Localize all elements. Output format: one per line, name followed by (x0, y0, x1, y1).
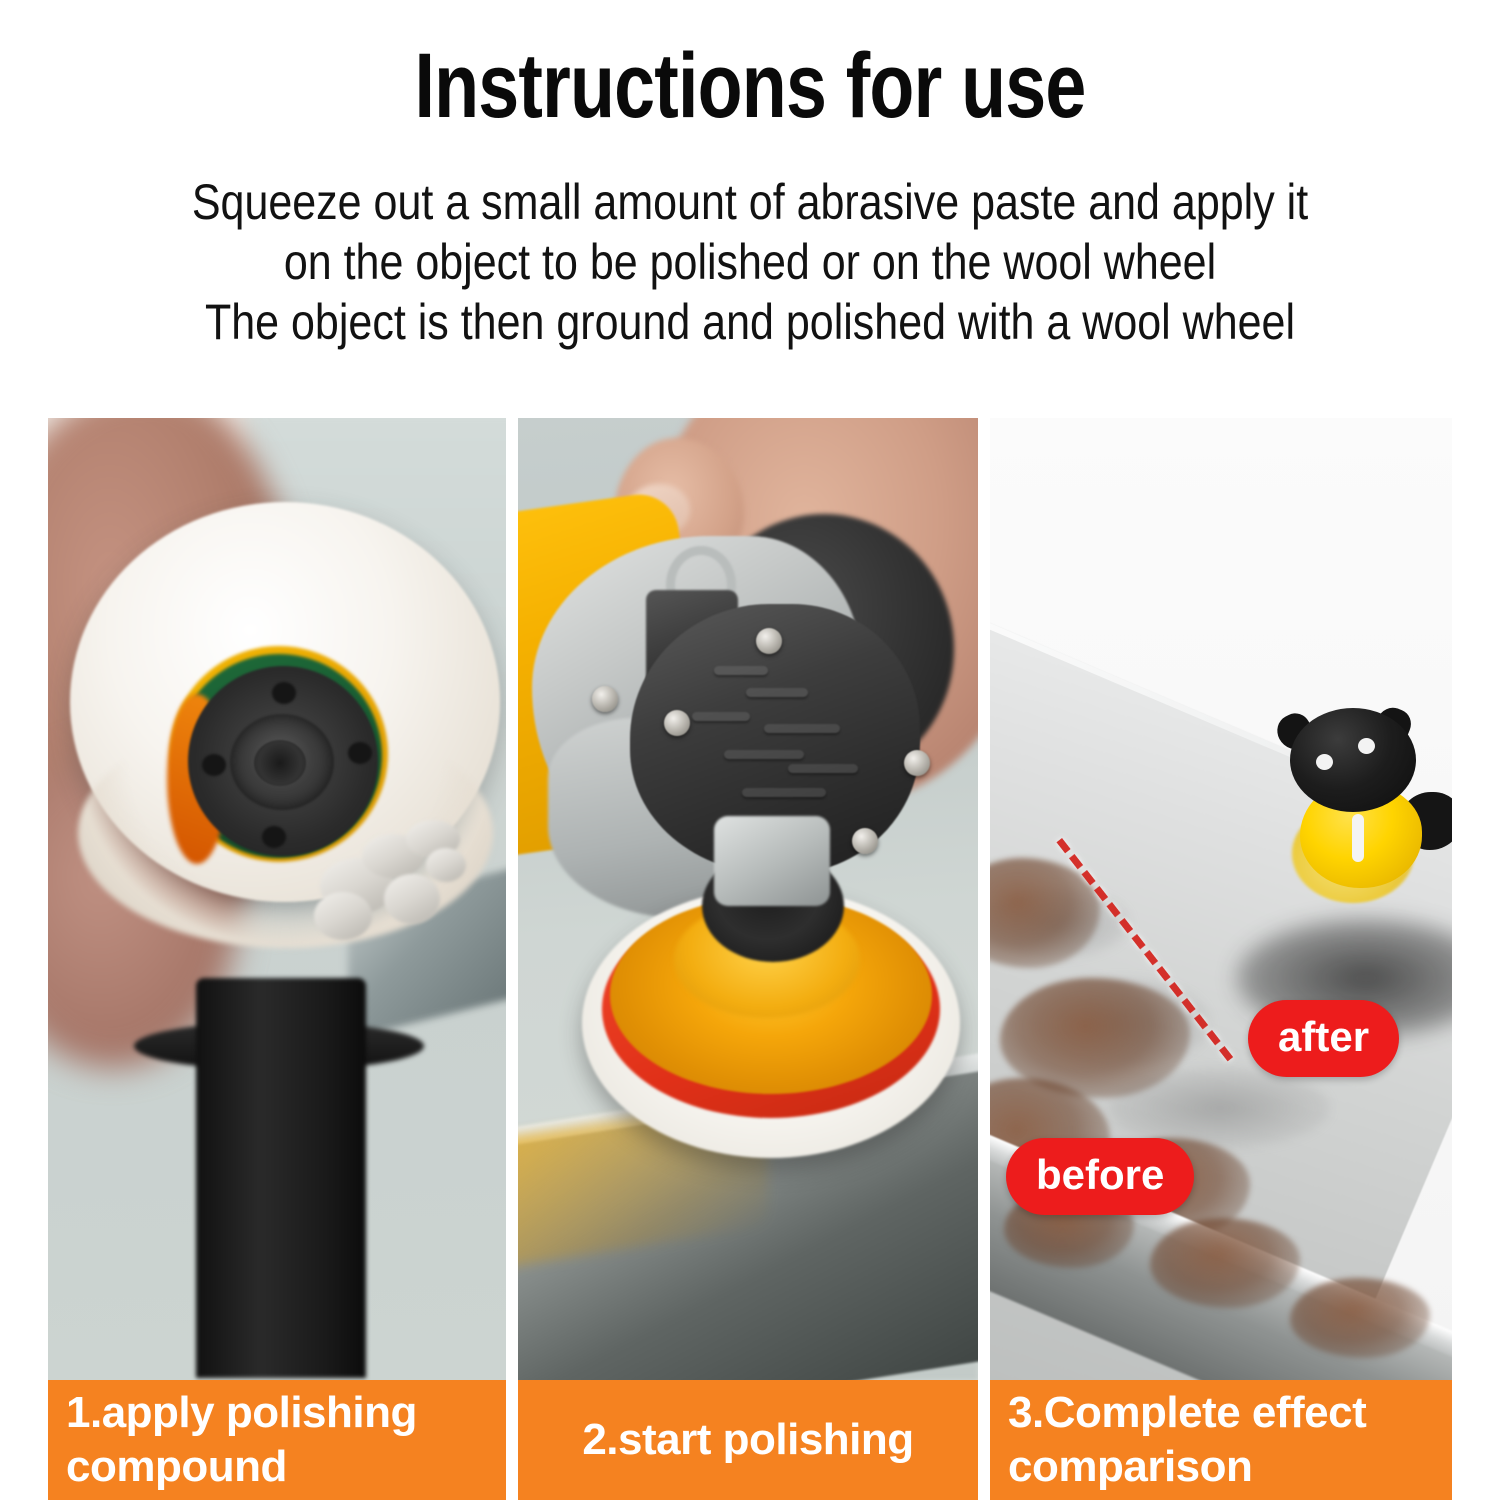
cover-screw (904, 750, 930, 776)
subtitle-line-3: The object is then ground and polished w… (105, 292, 1395, 352)
step-panel-3[interactable]: 3.Complete effect comparison (990, 418, 1452, 1500)
toy-head (1290, 708, 1416, 812)
grinder-spindle (714, 816, 830, 906)
header-section: Instructions for use Squeeze out a small… (0, 0, 1500, 400)
before-badge: before (1006, 1138, 1194, 1215)
toy-tie (1352, 814, 1364, 862)
step-3-caption: 3.Complete effect comparison (990, 1380, 1452, 1500)
after-badge: after (1248, 1000, 1399, 1077)
hub-bolt (348, 742, 372, 764)
step-1-photo (48, 418, 506, 1380)
hub-bolt (262, 826, 286, 848)
cover-screw (756, 628, 782, 654)
subtitle-block: Squeeze out a small amount of abrasive p… (0, 172, 1500, 352)
step-1-caption-line-2: compound (66, 1440, 488, 1494)
hub-bolt (272, 682, 296, 704)
toy-figure (1272, 708, 1452, 928)
step-1-caption-line-1: 1.apply polishing (66, 1386, 488, 1440)
grinder-body (196, 978, 366, 1378)
subtitle-line-2: on the object to be polished or on the w… (105, 232, 1395, 292)
steps-gallery: 1.apply polishing compound (0, 418, 1500, 1500)
step-3-caption-line-1: 3.Complete effect (1008, 1386, 1434, 1440)
rust-patch-edge (1290, 1278, 1430, 1358)
cover-screw (664, 710, 690, 736)
hub-bolt (202, 754, 226, 776)
abrasive-paste (310, 818, 470, 948)
step-1-caption: 1.apply polishing compound (48, 1380, 506, 1500)
step-2-caption: 2.start polishing (518, 1380, 978, 1500)
toy-eye (1358, 738, 1375, 754)
step-panel-2[interactable]: 2.start polishing (518, 418, 978, 1500)
rust-patch-edge (1150, 1218, 1300, 1308)
page-title: Instructions for use (150, 34, 1350, 138)
toy-eye (1316, 754, 1333, 770)
housing-screw (592, 686, 618, 712)
step-2-photo (518, 418, 978, 1380)
step-3-photo (990, 418, 1452, 1380)
step-panel-1[interactable]: 1.apply polishing compound (48, 418, 506, 1500)
subtitle-line-1: Squeeze out a small amount of abrasive p… (105, 172, 1395, 232)
step-2-caption-line-1: 2.start polishing (536, 1413, 960, 1467)
step-3-caption-line-2: comparison (1008, 1440, 1434, 1494)
hub-center (254, 740, 306, 786)
cover-screw (852, 828, 878, 854)
